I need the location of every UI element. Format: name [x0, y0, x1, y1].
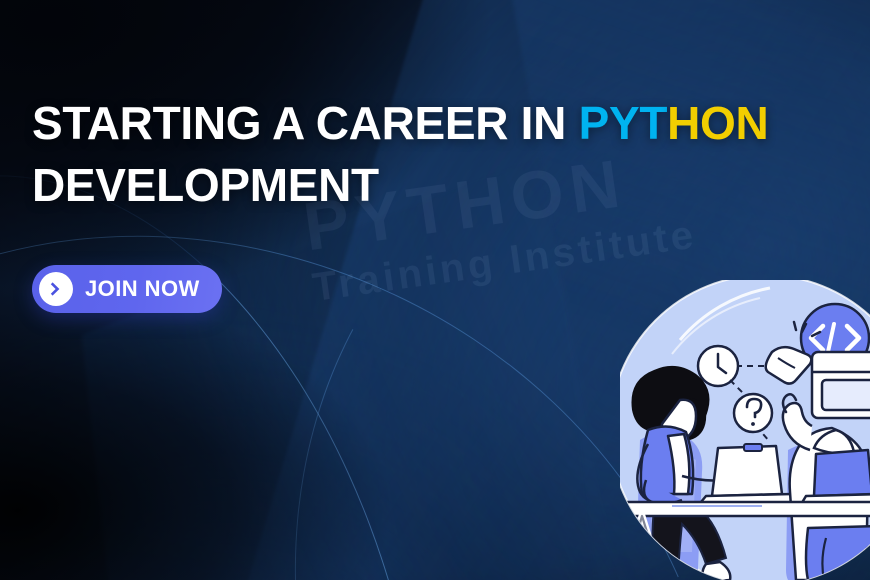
join-now-label: JOIN NOW	[85, 276, 200, 302]
join-now-button[interactable]: JOIN NOW	[32, 265, 222, 313]
headline-python-yellow: HON	[667, 97, 768, 149]
headline-prefix: STARTING A CAREER IN	[32, 97, 579, 149]
monitor-icon	[812, 352, 870, 418]
chevron-right-icon	[39, 272, 73, 306]
illustration-two-people-at-desk	[620, 280, 870, 580]
promo-banner: PYTHON Training Institute STARTING A CAR…	[0, 0, 870, 580]
headline-line2: DEVELOPMENT	[32, 159, 379, 211]
page-title: STARTING A CAREER IN PYTHON DEVELOPMENT	[32, 92, 822, 216]
headline-python-cyan: PYT	[579, 97, 668, 149]
